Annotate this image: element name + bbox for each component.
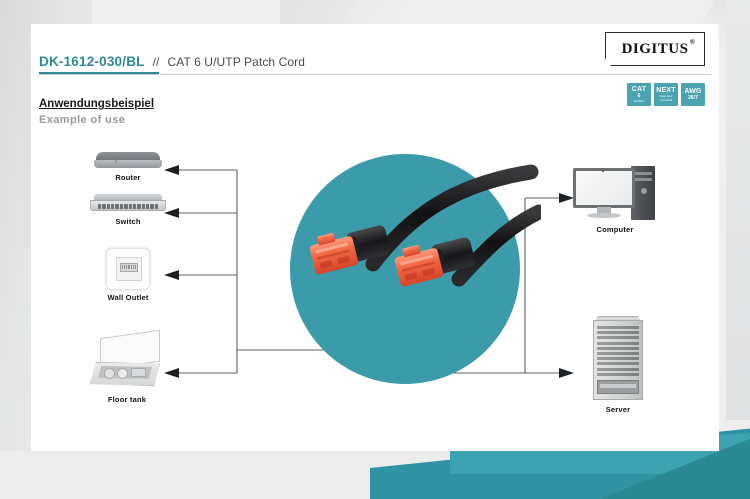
digitus-logo: DIGITUS® [605, 32, 705, 66]
computer-icon [573, 166, 657, 222]
router-label: Router [83, 173, 173, 182]
content-sheet: DIGITUS® DK-1612-030/BL // CAT 6 U/UTP P… [31, 24, 719, 451]
node-computer: Computer [570, 166, 660, 234]
title-separator: // [153, 55, 160, 69]
section-title-de: Anwendungsbeispiel [39, 98, 154, 110]
node-floor-tank: Floor tank [79, 334, 175, 404]
registered-trademark-icon: ® [690, 38, 696, 46]
cat6-badge-line3: ISO/IEC [633, 100, 644, 103]
awg-badge-line2: 26/7 [688, 96, 698, 101]
node-server: Server [583, 316, 653, 414]
background-facet-right [726, 0, 750, 420]
certification-badges: CAT 6 ISO/IEC NEXT Near End Crosstalk AW… [627, 83, 705, 106]
arrow-server [559, 368, 574, 378]
digitus-logo-text: DIGITUS® [622, 41, 689, 58]
next-badge: NEXT Near End Crosstalk [654, 83, 678, 106]
application-diagram: Router Switch Wall Outlet [31, 128, 719, 448]
switch-icon [90, 194, 166, 214]
patch-cord-product-image [281, 154, 541, 384]
logo-wordmark: DIGITUS [622, 41, 689, 57]
switch-label: Switch [80, 217, 176, 226]
wall-outlet-label: Wall Outlet [83, 293, 173, 302]
cat6-badge-line1: CAT [632, 86, 646, 93]
product-sku: DK-1612-030/BL [39, 54, 145, 69]
router-icon [94, 152, 162, 170]
product-subtitle: CAT 6 U/UTP Patch Cord [167, 55, 305, 69]
section-title-en: Example of use [39, 114, 125, 126]
node-switch: Switch [80, 194, 176, 226]
header-divider [39, 74, 711, 75]
product-title-line: DK-1612-030/BL // CAT 6 U/UTP Patch Cord [39, 54, 305, 69]
computer-label: Computer [570, 225, 660, 234]
page-header: DIGITUS® DK-1612-030/BL // CAT 6 U/UTP P… [31, 24, 719, 86]
next-badge-line3: Crosstalk [660, 99, 673, 102]
node-router: Router [83, 152, 173, 182]
next-badge-line1: NEXT [656, 87, 675, 94]
node-wall-outlet: Wall Outlet [83, 248, 173, 302]
awg-badge: AWG 26/7 [681, 83, 705, 106]
awg-badge-line1: AWG [684, 88, 701, 95]
floor-tank-icon [86, 334, 168, 392]
datasheet-page: DIGITUS® DK-1612-030/BL // CAT 6 U/UTP P… [0, 0, 750, 499]
cat6-badge: CAT 6 ISO/IEC [627, 83, 651, 106]
floor-tank-label: Floor tank [79, 395, 175, 404]
server-icon [589, 316, 647, 402]
server-label: Server [583, 405, 653, 414]
wall-outlet-icon [106, 248, 150, 290]
